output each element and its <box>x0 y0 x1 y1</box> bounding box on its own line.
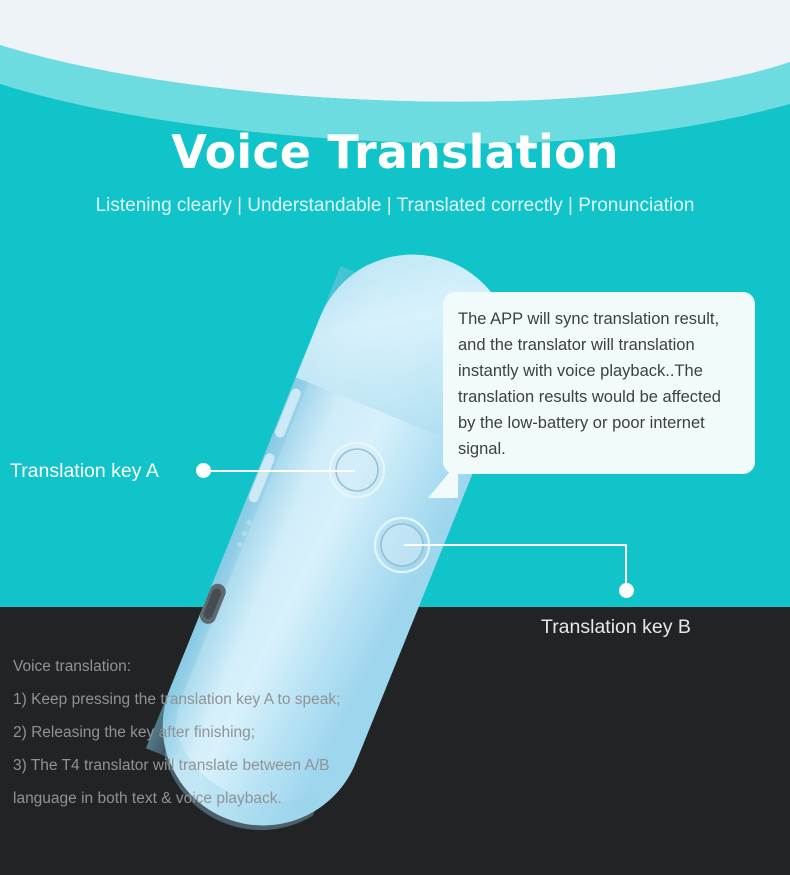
callout-a-label: Translation key A <box>10 458 159 484</box>
callout-b-line-horizontal <box>404 544 626 546</box>
callout-b-line-vertical <box>625 544 627 586</box>
callout-a-dot <box>196 463 211 478</box>
speech-bubble-text: The APP will sync translation result, an… <box>458 306 741 462</box>
callout-b-dot <box>619 583 634 598</box>
callout-b-label: Translation key B <box>541 614 691 640</box>
instructions-line-4: language in both text & voice playback. <box>13 782 433 815</box>
page-title: Voice Translation <box>0 121 790 183</box>
instructions-block: Voice translation: 1) Keep pressing the … <box>13 650 433 815</box>
instructions-line-2: 2) Releasing the key after finishing; <box>13 716 433 749</box>
instructions-heading: Voice translation: <box>13 650 433 683</box>
instructions-line-3: 3) The T4 translator will translate betw… <box>13 749 433 782</box>
callout-a-line <box>210 470 355 472</box>
product-banner: Voice Translation Listening clearly | Un… <box>0 0 790 875</box>
speech-bubble: The APP will sync translation result, an… <box>443 292 755 474</box>
page-subtitle: Listening clearly | Understandable | Tra… <box>0 193 790 219</box>
instructions-line-1: 1) Keep pressing the translation key A t… <box>13 683 433 716</box>
